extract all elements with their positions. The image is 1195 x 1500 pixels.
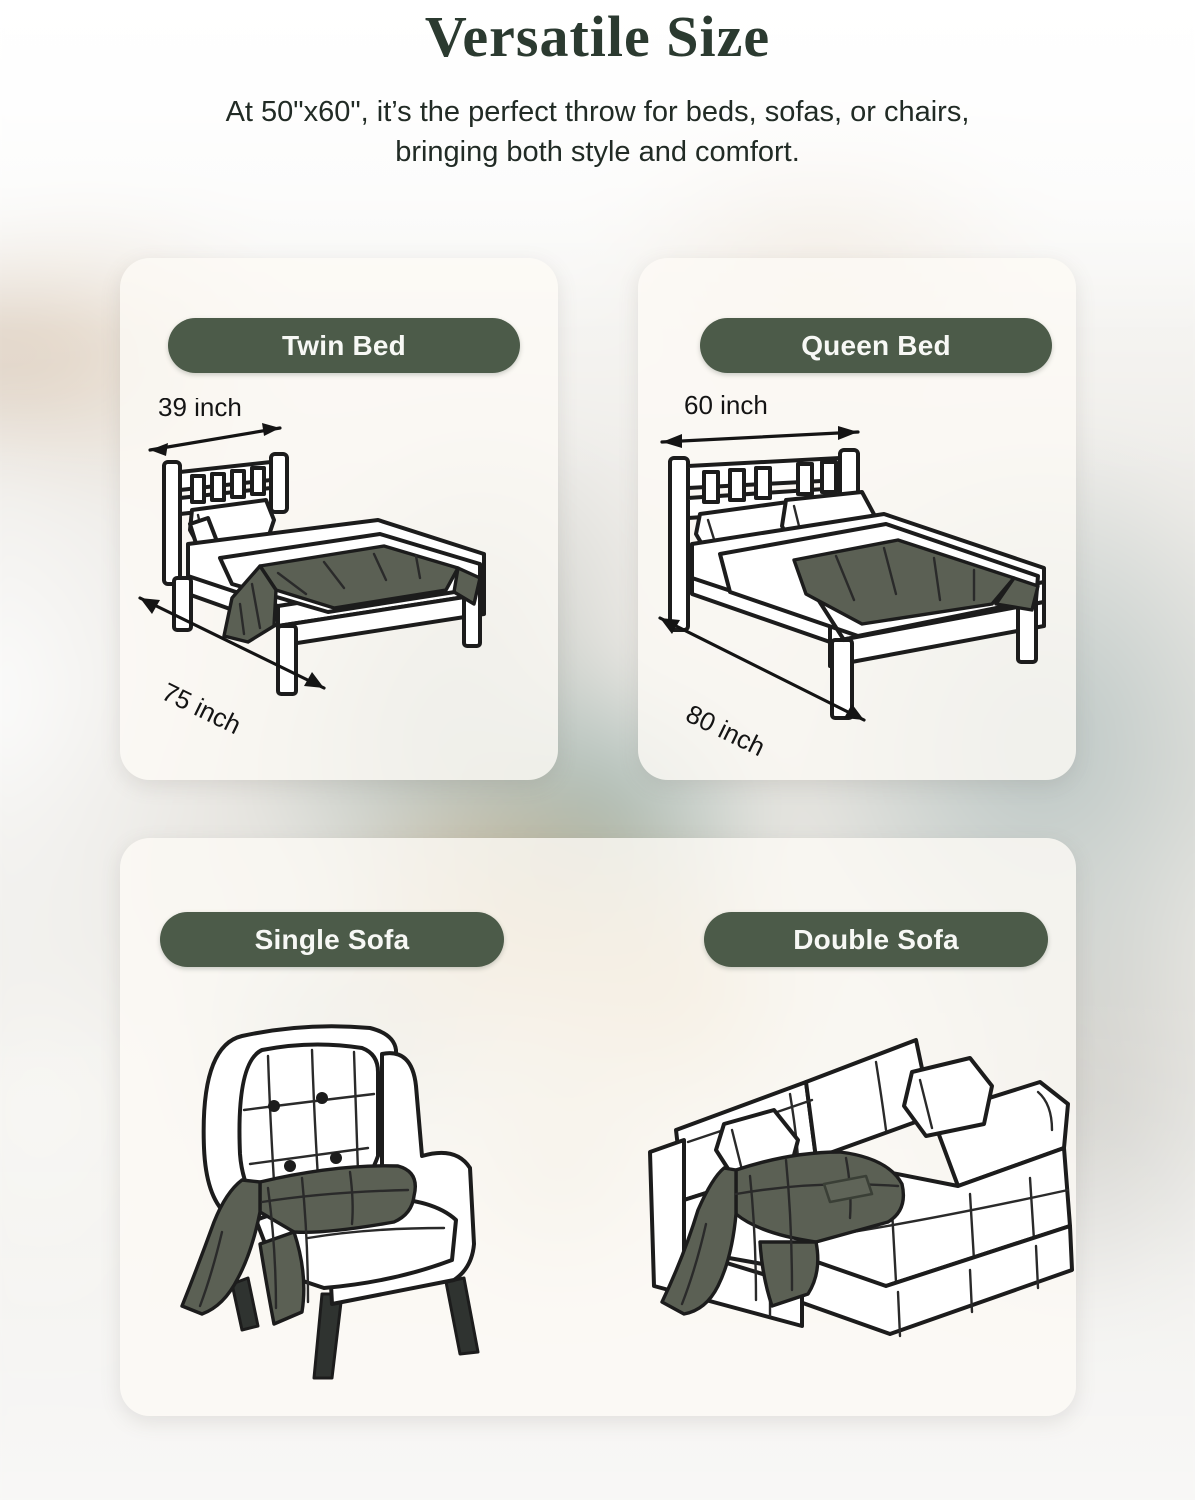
- double-sofa-illustration: [640, 1018, 1076, 1358]
- twin-width-label: 39 inch: [158, 398, 242, 422]
- badge-double-sofa: Double Sofa: [704, 912, 1048, 967]
- badge-twin-bed: Twin Bed: [168, 318, 520, 373]
- twin-length-label: 75 inch: [157, 676, 246, 740]
- card-sofas: Single Sofa Double Sofa: [120, 838, 1076, 1416]
- page-subtitle: At 50"x60", it’s the perfect throw for b…: [0, 92, 1195, 172]
- queen-width-label: 60 inch: [684, 390, 768, 420]
- dimension-arrow-width: [150, 423, 280, 456]
- subtitle-line-2: bringing both style and comfort.: [0, 132, 1195, 172]
- dimension-arrow-width: [662, 426, 858, 448]
- badge-single-sofa: Single Sofa: [160, 912, 504, 967]
- subtitle-line-1: At 50"x60", it’s the perfect throw for b…: [0, 92, 1195, 132]
- queen-length-label: 80 inch: [681, 698, 770, 762]
- card-twin-bed: Twin Bed 39 inch: [120, 258, 558, 780]
- armchair-illustration: [156, 1006, 536, 1386]
- header: Versatile Size At 50"x60", it’s the perf…: [0, 0, 1195, 172]
- badge-queen-bed: Queen Bed: [700, 318, 1052, 373]
- queen-bed-illustration: 60 inch: [648, 388, 1072, 768]
- twin-bed-illustration: 39 inch: [128, 398, 552, 768]
- page-title: Versatile Size: [0, 0, 1195, 66]
- infographic-page: Versatile Size At 50"x60", it’s the perf…: [0, 0, 1195, 1500]
- card-queen-bed: Queen Bed 60 inch: [638, 258, 1076, 780]
